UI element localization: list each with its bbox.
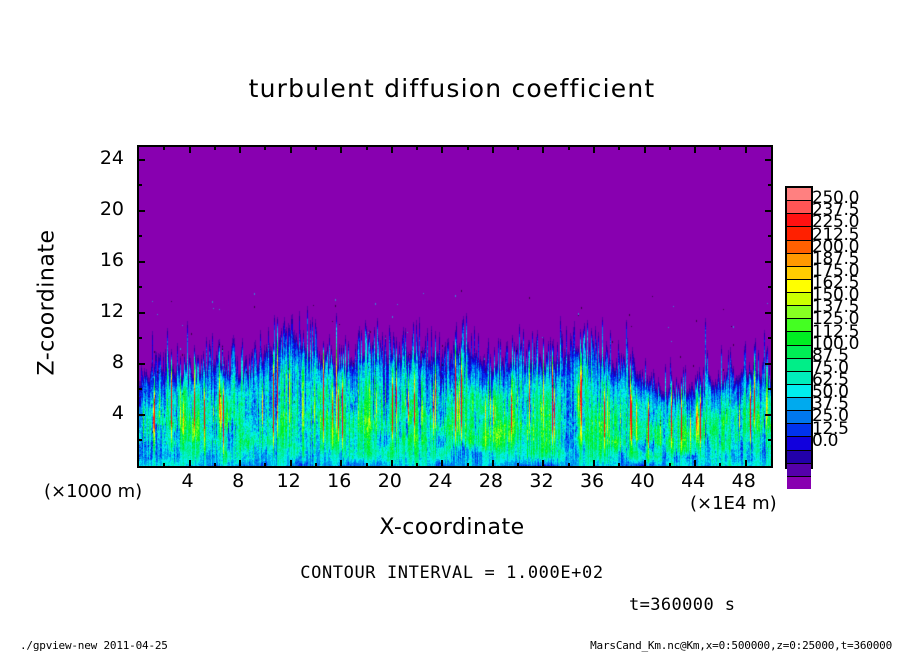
x-tick-major <box>290 460 292 468</box>
colorbar-cell <box>787 306 811 319</box>
x-tick-major <box>290 145 292 153</box>
y-tick-major <box>765 363 773 365</box>
colorbar-cell <box>787 227 811 240</box>
x-tick-minor <box>467 145 469 150</box>
y-tick-major <box>137 363 145 365</box>
x-tick-minor <box>264 463 266 468</box>
x-tick-major <box>239 460 241 468</box>
colorbar-cell <box>787 293 811 306</box>
y-tick-label: 12 <box>92 300 124 322</box>
colorbar-cell <box>787 267 811 280</box>
x-tick-minor <box>264 145 266 150</box>
x-tick-major <box>644 145 646 153</box>
x-tick-minor <box>719 145 721 150</box>
x-unit-right-label: (×1E4 m) <box>690 493 777 514</box>
x-tick-minor <box>517 145 519 150</box>
y-tick-major <box>765 312 773 314</box>
x-tick-major <box>593 460 595 468</box>
x-tick-major <box>340 145 342 153</box>
x-tick-minor <box>163 145 165 150</box>
colorbar-cell <box>787 424 811 437</box>
y-tick-minor <box>768 235 773 237</box>
colorbar <box>785 186 813 469</box>
y-tick-label: 4 <box>92 402 124 424</box>
x-tick-minor <box>214 463 216 468</box>
x-tick-minor <box>315 463 317 468</box>
x-tick-major <box>239 145 241 153</box>
y-tick-major <box>765 159 773 161</box>
y-tick-label: 24 <box>92 147 124 169</box>
x-axis-title: X-coordinate <box>0 515 904 540</box>
colorbar-cell <box>787 201 811 214</box>
y-tick-major <box>137 159 145 161</box>
x-tick-minor <box>618 463 620 468</box>
x-tick-major <box>745 145 747 153</box>
x-tick-major <box>441 145 443 153</box>
y-tick-major <box>765 210 773 212</box>
x-tick-major <box>745 460 747 468</box>
colorbar-cell <box>787 346 811 359</box>
y-tick-minor <box>768 286 773 288</box>
colorbar-cell <box>787 254 811 267</box>
x-tick-major <box>694 145 696 153</box>
y-tick-major <box>137 261 145 263</box>
colorbar-cell <box>787 188 811 201</box>
x-tick-major <box>694 460 696 468</box>
x-tick-minor <box>315 145 317 150</box>
colorbar-tick-label: 0.0 <box>812 431 838 451</box>
x-tick-minor <box>669 145 671 150</box>
x-tick-minor <box>669 463 671 468</box>
colorbar-cell <box>787 214 811 227</box>
y-tick-minor <box>768 184 773 186</box>
x-tick-minor <box>568 463 570 468</box>
y-tick-label: 16 <box>92 249 124 271</box>
y-tick-minor <box>768 337 773 339</box>
x-tick-minor <box>366 463 368 468</box>
x-tick-major <box>391 145 393 153</box>
y-tick-minor <box>768 388 773 390</box>
y-tick-minor <box>137 439 142 441</box>
x-tick-major <box>542 460 544 468</box>
colorbar-cell <box>787 464 811 477</box>
colorbar-cell <box>787 398 811 411</box>
x-tick-minor <box>366 145 368 150</box>
x-tick-major <box>593 145 595 153</box>
x-tick-major <box>391 460 393 468</box>
y-tick-major <box>765 414 773 416</box>
x-tick-minor <box>214 145 216 150</box>
y-tick-minor <box>137 184 142 186</box>
y-tick-minor <box>768 439 773 441</box>
colorbar-cell <box>787 241 811 254</box>
y-tick-major <box>137 414 145 416</box>
y-tick-minor <box>137 286 142 288</box>
x-tick-minor <box>618 145 620 150</box>
y-tick-minor <box>137 337 142 339</box>
y-tick-label: 8 <box>92 351 124 373</box>
x-tick-major <box>441 460 443 468</box>
y-tick-label: 20 <box>92 198 124 220</box>
y-tick-major <box>137 312 145 314</box>
colorbar-cell <box>787 437 811 450</box>
y-tick-minor <box>137 235 142 237</box>
turbulence-field-heatmap <box>139 147 771 466</box>
colorbar-cell <box>787 319 811 332</box>
colorbar-cell <box>787 280 811 293</box>
colorbar-cell <box>787 372 811 385</box>
gpview-plot-page: turbulent diffusion coefficient X-coordi… <box>0 0 904 654</box>
y-tick-major <box>765 261 773 263</box>
x-tick-major <box>189 460 191 468</box>
y-tick-major <box>137 210 145 212</box>
y-tick-minor <box>137 388 142 390</box>
x-tick-minor <box>416 145 418 150</box>
plot-area <box>137 145 773 468</box>
x-tick-major <box>644 460 646 468</box>
colorbar-cell <box>787 451 811 464</box>
x-tick-major <box>492 145 494 153</box>
x-tick-minor <box>719 463 721 468</box>
x-tick-minor <box>467 463 469 468</box>
x-tick-minor <box>517 463 519 468</box>
contour-interval-label: CONTOUR INTERVAL = 1.000E+02 <box>0 563 904 583</box>
x-tick-minor <box>163 463 165 468</box>
x-tick-minor <box>568 145 570 150</box>
colorbar-cell <box>787 332 811 345</box>
page-title: turbulent diffusion coefficient <box>0 74 904 103</box>
time-label: t=360000 s <box>629 595 735 615</box>
x-tick-label: 48 <box>714 470 774 492</box>
x-tick-minor <box>416 463 418 468</box>
footer-command-label: ./gpview-new 2011-04-25 <box>20 639 168 652</box>
x-tick-major <box>542 145 544 153</box>
x-tick-major <box>189 145 191 153</box>
colorbar-cell <box>787 477 811 489</box>
colorbar-cell <box>787 359 811 372</box>
colorbar-cell <box>787 385 811 398</box>
footer-source-label: MarsCand_Km.nc@Km,x=0:500000,z=0:25000,t… <box>590 639 892 652</box>
x-tick-major <box>492 460 494 468</box>
x-tick-major <box>340 460 342 468</box>
x-unit-left-label: (×1000 m) <box>44 481 142 502</box>
y-axis-title: Z-coordinate <box>35 223 60 383</box>
colorbar-cell <box>787 411 811 424</box>
